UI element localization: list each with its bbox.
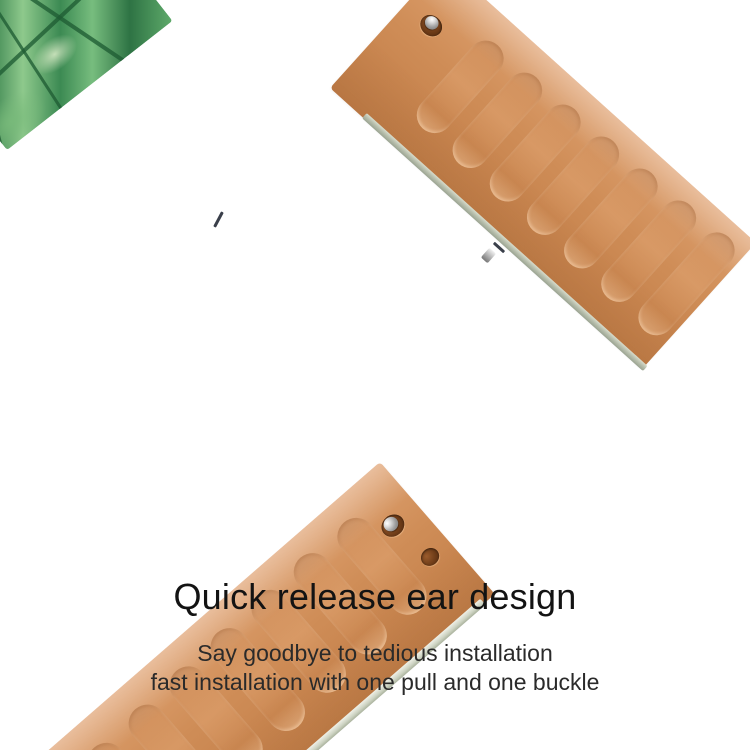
spring-bar-tip-upper [481, 248, 496, 264]
band-shading [330, 0, 750, 369]
caption-line-1: Say goodbye to tedious installation [0, 640, 750, 667]
leaf-vein [0, 0, 142, 74]
caption-line-2: fast installation with one pull and one … [0, 669, 750, 696]
quick-release-pin-hole-secondary [417, 544, 442, 569]
tropical-leaf-band [0, 0, 173, 150]
spring-bar-needle-lower [213, 211, 224, 227]
brown-silicone-band-upper [330, 0, 750, 369]
page-title: Quick release ear design [0, 576, 750, 618]
product-image-canvas: Quick release ear design Say goodbye to … [0, 0, 750, 750]
